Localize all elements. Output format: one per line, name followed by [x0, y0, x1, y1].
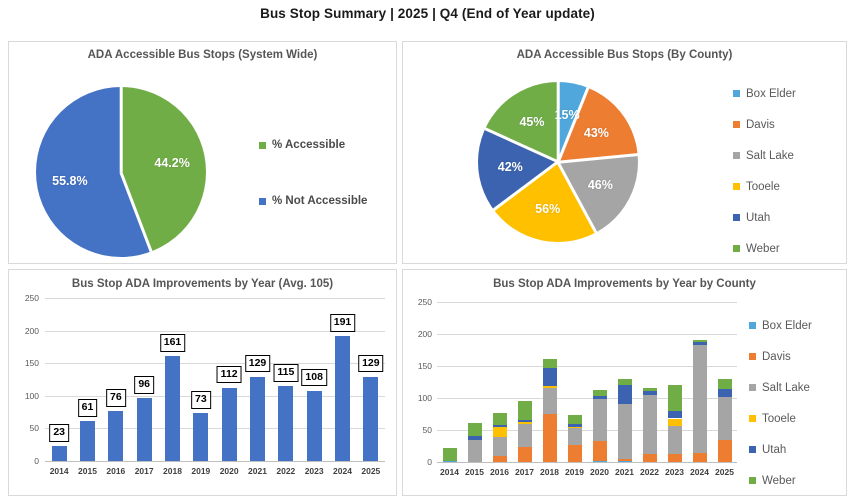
bar-2014[interactable] — [52, 446, 67, 461]
x-axis-tick-2019: 2019 — [565, 467, 584, 477]
stacked-bar-2015[interactable] — [468, 302, 482, 462]
legend-item-utah[interactable]: Utah — [749, 434, 812, 465]
segment-weber — [693, 340, 707, 342]
y-axis-tick: 150 — [404, 361, 432, 371]
gridline — [437, 462, 737, 463]
segment-davis — [593, 441, 607, 461]
segment-utah — [568, 424, 582, 427]
pie-data-label: 45% — [519, 115, 544, 129]
bar-data-label: 115 — [273, 364, 298, 382]
x-axis-tick-2023: 2023 — [305, 466, 324, 476]
y-axis-tick: 250 — [404, 297, 432, 307]
segment-davis — [493, 456, 507, 462]
segment-tooele — [668, 419, 682, 427]
y-axis-tick: 150 — [9, 358, 39, 368]
x-axis-tick-2017: 2017 — [515, 467, 534, 477]
pie-data-label: 42% — [498, 160, 523, 174]
bar-2023[interactable] — [307, 391, 322, 461]
stacked-bar-2022[interactable] — [643, 302, 657, 462]
legend-label: Tooele — [746, 181, 780, 193]
stacked-bar-2025[interactable] — [718, 302, 732, 462]
bar-data-label: 108 — [301, 369, 327, 387]
legend-label: Davis — [762, 351, 791, 363]
stacked-bar-2019[interactable] — [568, 302, 582, 462]
legend-swatch — [749, 322, 756, 329]
segment-tooele — [543, 386, 557, 388]
legend-item-weber[interactable]: Weber — [733, 233, 796, 264]
pie-data-label: 46% — [588, 178, 613, 192]
segment-salt-lake — [668, 426, 682, 454]
segment-box-elder — [593, 461, 607, 462]
stacked-bar-2023[interactable] — [668, 302, 682, 462]
y-axis-tick: 200 — [404, 329, 432, 339]
legend-label: % Accessible — [272, 139, 345, 151]
segment-davis — [543, 414, 557, 462]
panel-improvements-by-year: Bus Stop ADA Improvements by Year (Avg. … — [8, 269, 397, 496]
bar-2024[interactable] — [335, 336, 350, 461]
pie-slice-divider — [557, 82, 560, 162]
bar-2018[interactable] — [165, 356, 180, 461]
bar-data-label: 76 — [106, 389, 126, 407]
segment-davis — [668, 454, 682, 462]
segment-tooele — [493, 427, 507, 437]
segment-salt-lake — [568, 428, 582, 445]
legend-swatch — [733, 90, 740, 97]
segment-tooele — [518, 422, 532, 424]
pie-data-label: 55.8% — [52, 174, 87, 188]
legend-swatch — [749, 384, 756, 391]
page-title: Bus Stop Summary | 2025 | Q4 (End of Yea… — [0, 6, 855, 21]
stacked-bar-2021[interactable] — [618, 302, 632, 462]
legend-swatch — [733, 121, 740, 128]
bar-data-label: 129 — [245, 355, 271, 373]
gridline — [45, 396, 385, 397]
segment-box-elder — [618, 461, 632, 462]
gridline — [45, 363, 385, 364]
x-axis-tick-2020: 2020 — [220, 466, 239, 476]
legend-system-wide: % Accessible% Not Accessible — [259, 117, 367, 229]
segment-utah — [593, 396, 607, 399]
stacked-bar-2017[interactable] — [518, 302, 532, 462]
segment-salt-lake — [593, 399, 607, 441]
segment-salt-lake — [543, 388, 557, 414]
x-axis-tick-2018: 2018 — [163, 466, 182, 476]
legend-swatch — [733, 152, 740, 159]
segment-salt-lake — [518, 424, 532, 446]
bar-data-label: 112 — [217, 366, 242, 384]
x-axis-tick-2020: 2020 — [590, 467, 609, 477]
legend-label: Davis — [746, 119, 775, 131]
x-axis-tick-2014: 2014 — [50, 466, 69, 476]
pie-data-label: 43% — [584, 126, 609, 140]
x-axis-tick-2014: 2014 — [440, 467, 459, 477]
pie-data-label: 44.2% — [154, 156, 189, 170]
bar-data-label: 96 — [134, 376, 154, 394]
legend-label: Weber — [762, 475, 796, 487]
x-axis-tick-2025: 2025 — [715, 467, 734, 477]
y-axis-tick: 100 — [404, 393, 432, 403]
plot-area-improvements-by-year: 0501001502002502320146120157620169620171… — [45, 298, 385, 461]
pie-data-label: 15% — [555, 108, 580, 122]
segment-salt-lake — [693, 345, 707, 453]
legend-item-utah[interactable]: Utah — [733, 202, 796, 233]
segment-salt-lake — [643, 395, 657, 455]
x-axis-tick-2015: 2015 — [78, 466, 97, 476]
segment-utah — [493, 425, 507, 427]
legend-item-weber[interactable]: Weber — [749, 465, 812, 496]
segment-salt-lake — [718, 397, 732, 439]
y-axis-tick: 50 — [9, 423, 39, 433]
x-axis-tick-2016: 2016 — [490, 467, 509, 477]
legend-item-salt-lake[interactable]: Salt Lake — [733, 140, 796, 171]
bar-2025[interactable] — [363, 377, 378, 461]
legend-label: Box Elder — [746, 88, 796, 100]
bar-2015[interactable] — [80, 421, 95, 461]
legend-label: Salt Lake — [746, 150, 794, 162]
y-axis-tick: 200 — [9, 326, 39, 336]
bar-2016[interactable] — [108, 411, 123, 461]
bar-data-label: 161 — [160, 334, 186, 352]
stacked-bar-2024[interactable] — [693, 302, 707, 462]
chart-title-improvements-by-county: Bus Stop ADA Improvements by Year by Cou… — [403, 278, 846, 290]
legend-item-salt-lake[interactable]: Salt Lake — [749, 372, 812, 403]
legend-label: Utah — [762, 444, 786, 456]
segment-davis — [718, 440, 732, 462]
x-axis-tick-2015: 2015 — [465, 467, 484, 477]
segment-utah — [668, 411, 682, 419]
y-axis-tick: 100 — [9, 391, 39, 401]
legend-item-box-elder[interactable]: Box Elder — [749, 310, 812, 341]
legend-swatch — [733, 245, 740, 252]
legend-label: Weber — [746, 243, 780, 255]
x-axis-tick-2025: 2025 — [361, 466, 380, 476]
legend-item-tooele[interactable]: Tooele — [733, 171, 796, 202]
panel-county-pie: ADA Accessible Bus Stops (By County) 15%… — [402, 41, 847, 264]
segment-box-elder — [443, 461, 457, 462]
legend-label: % Not Accessible — [272, 195, 367, 207]
legend-by-county: Box ElderDavisSalt LakeTooeleUtahWeber — [733, 78, 796, 264]
x-axis-tick-2022: 2022 — [640, 467, 659, 477]
legend-swatch — [749, 446, 756, 453]
bar-data-label: 129 — [358, 355, 384, 373]
legend-item-davis[interactable]: Davis — [749, 341, 812, 372]
segment-weber — [718, 379, 732, 389]
pie-slice-divider — [120, 87, 123, 172]
legend-swatch — [259, 142, 266, 149]
panel-system-wide-pie: ADA Accessible Bus Stops (System Wide) 4… — [8, 41, 397, 264]
bar-2019[interactable] — [193, 413, 208, 461]
segment-weber — [443, 448, 457, 461]
segment-davis — [518, 447, 532, 462]
legend-swatch — [259, 198, 266, 205]
bar-data-label: 73 — [191, 391, 211, 409]
legend-item-davis[interactable]: Davis — [733, 109, 796, 140]
segment-salt-lake — [493, 437, 507, 456]
segment-davis — [693, 453, 707, 462]
legend-swatch — [749, 477, 756, 484]
stacked-bar-2018[interactable] — [543, 302, 557, 462]
segment-weber — [468, 423, 482, 436]
legend-label: Tooele — [762, 413, 796, 425]
segment-weber — [618, 379, 632, 385]
y-axis-tick: 0 — [404, 457, 432, 467]
x-axis-tick-2021: 2021 — [248, 466, 267, 476]
bar-2022[interactable] — [278, 386, 293, 461]
segment-utah — [618, 385, 632, 404]
legend-swatch — [749, 415, 756, 422]
x-axis-tick-2023: 2023 — [665, 467, 684, 477]
legend-improvements-by-county: Box ElderDavisSalt LakeTooeleUtahWeber — [749, 310, 812, 496]
x-axis-tick-2017: 2017 — [135, 466, 154, 476]
x-axis-tick-2018: 2018 — [540, 467, 559, 477]
stacked-bar-2016[interactable] — [493, 302, 507, 462]
x-axis-tick-2019: 2019 — [191, 466, 210, 476]
x-axis-tick-2022: 2022 — [276, 466, 295, 476]
segment-utah — [693, 342, 707, 345]
plot-area-improvements-by-county: 0501001502002502014201520162017201820192… — [437, 302, 737, 462]
gridline — [45, 298, 385, 299]
segment-utah — [518, 420, 532, 423]
segment-weber — [518, 401, 532, 420]
legend-item-not-accessible[interactable]: % Not Accessible — [259, 173, 367, 229]
x-axis-tick-2021: 2021 — [615, 467, 634, 477]
x-axis-tick-2024: 2024 — [690, 467, 709, 477]
legend-item-tooele[interactable]: Tooele — [749, 403, 812, 434]
segment-davis — [618, 459, 632, 462]
legend-label: Salt Lake — [762, 382, 810, 394]
segment-utah — [718, 389, 732, 397]
gridline — [45, 428, 385, 429]
segment-weber — [568, 415, 582, 423]
bar-data-label: 23 — [49, 424, 69, 442]
dashboard: Bus Stop Summary | 2025 | Q4 (End of Yea… — [0, 0, 855, 503]
segment-salt-lake — [468, 440, 482, 462]
segment-utah — [543, 368, 557, 386]
segment-davis — [643, 454, 657, 462]
legend-item-box-elder[interactable]: Box Elder — [733, 78, 796, 109]
legend-item-accessible[interactable]: % Accessible — [259, 117, 367, 173]
segment-davis — [568, 445, 582, 462]
x-axis-tick-2024: 2024 — [333, 466, 352, 476]
segment-weber — [668, 385, 682, 411]
bar-2020[interactable] — [222, 388, 237, 461]
gridline — [45, 461, 385, 462]
segment-weber — [593, 390, 607, 396]
segment-tooele — [568, 427, 582, 428]
segment-weber — [493, 413, 507, 425]
segment-weber — [643, 388, 657, 391]
legend-label: Box Elder — [762, 320, 812, 332]
segment-weber — [543, 359, 557, 368]
segment-utah — [468, 436, 482, 439]
chart-title-improvements-by-year: Bus Stop ADA Improvements by Year (Avg. … — [9, 278, 396, 290]
legend-label: Utah — [746, 212, 770, 224]
y-axis-tick: 50 — [404, 425, 432, 435]
stacked-bar-2014[interactable] — [443, 302, 457, 462]
pie-data-label: 56% — [535, 202, 560, 216]
bar-data-label: 191 — [330, 314, 356, 332]
x-axis-tick-2016: 2016 — [106, 466, 125, 476]
legend-swatch — [733, 214, 740, 221]
y-axis-tick: 0 — [9, 456, 39, 466]
stacked-bar-2020[interactable] — [593, 302, 607, 462]
bar-2017[interactable] — [137, 398, 152, 461]
legend-swatch — [749, 353, 756, 360]
panel-improvements-by-county: Bus Stop ADA Improvements by Year by Cou… — [402, 269, 847, 496]
bar-2021[interactable] — [250, 377, 265, 461]
segment-utah — [643, 391, 657, 395]
y-axis-tick: 250 — [9, 293, 39, 303]
legend-swatch — [733, 183, 740, 190]
bar-data-label: 61 — [78, 399, 98, 417]
segment-salt-lake — [618, 404, 632, 459]
